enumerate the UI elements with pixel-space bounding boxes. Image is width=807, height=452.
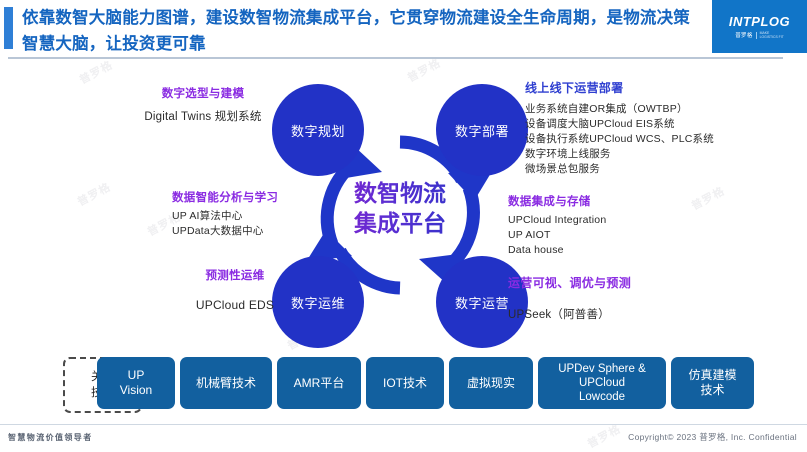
callout-heading: 预测性运维 [160, 268, 310, 284]
logo-divider [756, 32, 757, 39]
callout-line: 微场景总包服务 [525, 162, 755, 177]
tech-chip-line-2: 技术 [688, 383, 736, 398]
callout-heading: 线上线下运营部署 [525, 80, 755, 96]
tech-chip-line-3: Lowcode [558, 390, 646, 404]
tech-chip-line-1: 仿真建模 [688, 368, 736, 383]
tech-chip-robot-arm[interactable]: 机械臂技术 [180, 357, 272, 409]
callout-line: UPCloud EDS [160, 298, 310, 313]
callout-heading: 数据集成与存储 [508, 194, 718, 210]
callout-line: 业务系统自建OR集成（OWTBP） [525, 102, 755, 117]
callout-digital-modeling: 数字选型与建模 Digital Twins 规划系统 [118, 86, 288, 125]
header-accent-bar [4, 7, 13, 49]
watermark: 普罗格 [74, 178, 113, 209]
callout-line: 设备执行系统UPCloud WCS、PLC系统 [525, 132, 755, 147]
callout-line: 设备调度大脑UPCloud EIS系统 [525, 117, 755, 132]
brand-logo: INTPLOG 普罗格 MAKELOGISTICS FIT [712, 0, 807, 53]
logo-tagline-en: MAKELOGISTICS FIT [760, 31, 784, 39]
header-divider [8, 57, 783, 59]
key-technology-row: 关键 技术 UP Vision 机械臂技术 AMR平台 IOT技术 虚拟现实 U… [0, 354, 807, 412]
callout-line: UPData大数据中心 [172, 224, 352, 239]
tech-chip-vr[interactable]: 虚拟现实 [449, 357, 533, 409]
bubble-label: 数字部署 [455, 121, 509, 140]
callout-line: UP AIOT [508, 228, 718, 243]
tech-chip-simulation[interactable]: 仿真建模 技术 [671, 357, 754, 409]
callout-line: UP AI算法中心 [172, 209, 352, 224]
tech-chip-amr[interactable]: AMR平台 [277, 357, 361, 409]
tech-chip-label: 机械臂技术 [196, 376, 256, 391]
callout-data-integration: 数据集成与存储 UPCloud Integration UP AIOT Data… [508, 194, 718, 258]
callout-heading: 数据智能分析与学习 [172, 190, 352, 206]
tech-chip-label: AMR平台 [294, 376, 345, 391]
callout-data-intelligence: 数据智能分析与学习 UP AI算法中心 UPData大数据中心 [172, 190, 352, 239]
footer-tagline: 智慧物流价值领导者 [8, 432, 93, 443]
callout-heading: 数字选型与建模 [118, 86, 288, 102]
footer-copyright: Copyright© 2023 普罗格, Inc. Confidential [628, 431, 797, 443]
callout-line: 数字环境上线服务 [525, 147, 755, 162]
watermark: 普罗格 [584, 420, 623, 451]
callout-line: Digital Twins 规划系统 [118, 110, 288, 125]
bubble-label: 数字规划 [291, 121, 345, 140]
slide-canvas: 依靠数智大脑能力图谱，建设数智物流集成平台，它贯穿物流建设全生命周期，是物流决策… [0, 0, 807, 451]
callout-predictive-maintenance: 预测性运维 UPCloud EDS [160, 268, 310, 313]
bubble-digital-deploy[interactable]: 数字部署 [436, 84, 528, 176]
tech-chip-line-1: UPDev Sphere & [558, 362, 646, 376]
logo-subtitle: 普罗格 MAKELOGISTICS FIT [735, 31, 784, 39]
tech-chip-label: IOT技术 [383, 376, 427, 391]
callout-line: UPSeek（阿普善） [508, 308, 728, 323]
tech-chip-line-2: Vision [120, 383, 152, 398]
logo-brand-cn: 普罗格 [735, 31, 752, 39]
tech-chip-iot[interactable]: IOT技术 [366, 357, 444, 409]
footer-divider [0, 424, 807, 425]
logo-wordmark: INTPLOG [729, 14, 790, 29]
bubble-label: 数字运营 [455, 293, 509, 312]
callout-ops-visibility: 运营可视、调优与预测 UPSeek（阿普善） [508, 275, 728, 323]
tech-chip-up-vision[interactable]: UP Vision [97, 357, 175, 409]
callout-line: UPCloud Integration [508, 213, 718, 228]
callout-line: Data house [508, 243, 718, 258]
tech-chip-label: 虚拟现实 [467, 376, 515, 391]
callout-online-offline-ops: 线上线下运营部署 业务系统自建OR集成（OWTBP） 设备调度大脑UPCloud… [525, 80, 755, 177]
callout-heading: 运营可视、调优与预测 [508, 275, 728, 291]
tech-chip-line-1: UP [120, 368, 152, 383]
tech-chip-updev-sphere[interactable]: UPDev Sphere & UPCloud Lowcode [538, 357, 666, 409]
tech-chip-line-2: UPCloud [558, 376, 646, 390]
slide-header: 依靠数智大脑能力图谱，建设数智物流集成平台，它贯穿物流建设全生命周期，是物流决策… [0, 0, 807, 58]
watermark: 普罗格 [76, 56, 115, 87]
page-title: 依靠数智大脑能力图谱，建设数智物流集成平台，它贯穿物流建设全生命周期，是物流决策… [22, 5, 702, 57]
